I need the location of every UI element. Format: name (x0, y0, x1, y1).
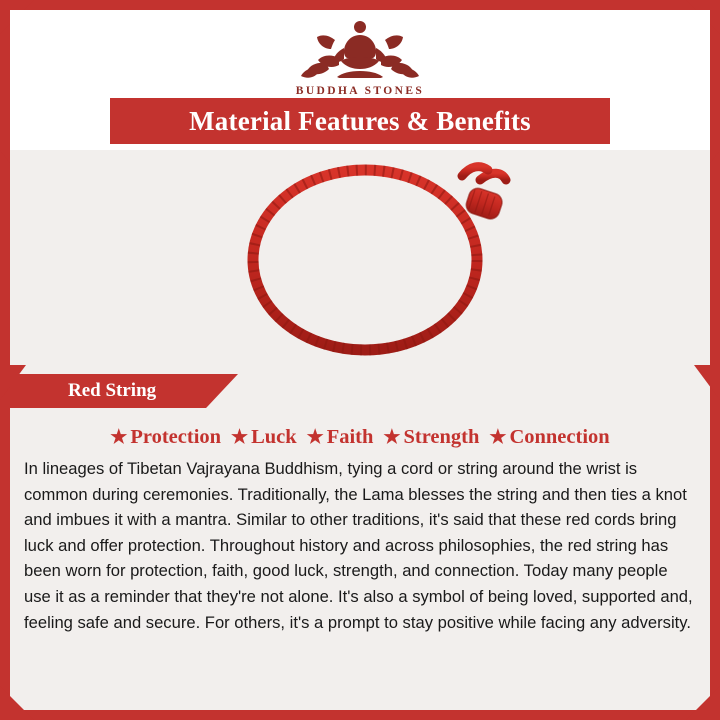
product-image-area (10, 150, 710, 365)
page-title: Material Features & Benefits (189, 106, 531, 137)
benefit-label: Faith (327, 426, 374, 449)
star-icon: ★ (307, 426, 324, 449)
benefit-label: Protection (130, 426, 221, 449)
benefit-label: Luck (251, 426, 297, 449)
product-label: Red String (68, 380, 156, 402)
page-title-banner: Material Features & Benefits (110, 98, 610, 144)
description-paragraph: In lineages of Tibetan Vajrayana Buddhis… (24, 456, 696, 635)
benefit-label: Strength (403, 426, 479, 449)
star-icon: ★ (489, 426, 506, 449)
benefit-item-protection: ★ Protection (110, 426, 221, 449)
brand-logo: BUDDHA STONES (0, 16, 720, 97)
product-label-tab: Red String (10, 374, 238, 408)
star-icon: ★ (383, 426, 400, 449)
frame-band-bottom (0, 710, 720, 720)
frame-band-top (0, 0, 720, 10)
benefit-item-strength: ★ Strength (373, 426, 479, 449)
star-icon: ★ (231, 426, 248, 449)
benefits-row: ★ Protection ★ Luck ★ Faith ★ Strength ★… (10, 420, 710, 454)
benefit-item-luck: ★ Luck (221, 426, 297, 449)
benefit-item-faith: ★ Faith (297, 426, 374, 449)
infographic-page: BUDDHA STONES Material Features & Benefi… (0, 0, 720, 720)
lotus-meditating-buddha-icon (0, 16, 720, 83)
frame-corner-bottom-right (686, 686, 720, 720)
red-braided-string-bracelet-icon (10, 352, 710, 369)
brand-name: BUDDHA STONES (0, 85, 720, 97)
frame-corner-bottom-left (0, 686, 34, 720)
star-icon: ★ (110, 426, 127, 449)
benefit-item-connection: ★ Connection (479, 426, 609, 449)
benefit-label: Connection (509, 426, 609, 449)
